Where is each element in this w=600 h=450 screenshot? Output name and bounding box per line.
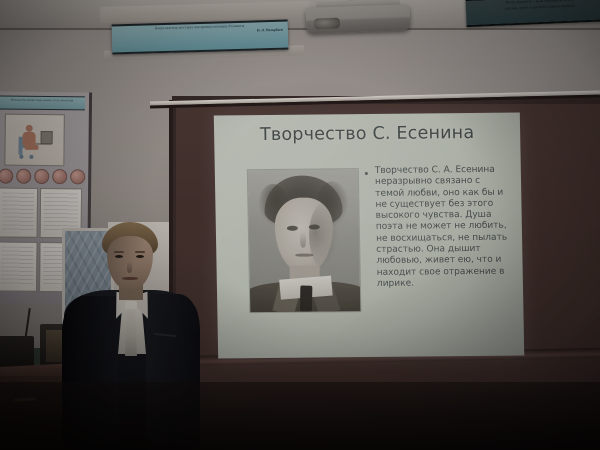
portrait-tie — [300, 285, 312, 311]
badge-icon — [16, 168, 31, 183]
classroom-photo-scene: Көңіл шаттық жастарға жасаратын елімізді… — [0, 0, 600, 450]
badge-icon — [34, 168, 49, 183]
portrait-mouth — [295, 254, 313, 257]
projector-lens-icon — [314, 18, 340, 30]
slide-body-block: Творчество С. А. Есенина неразрывно связ… — [375, 165, 509, 291]
bulletin-sheet — [0, 188, 38, 238]
slide-title: Творчество С. Есенина — [214, 123, 520, 146]
ceiling-projector — [300, 0, 416, 38]
foreground-shadow — [0, 382, 600, 450]
sheet-text-lines — [1, 247, 33, 287]
bullet-point-icon — [365, 172, 368, 175]
chair-wheel-icon-1 — [19, 155, 23, 159]
eyebrow-right — [135, 251, 145, 253]
badge-icon — [0, 168, 13, 183]
slide-body-text: Творчество С. А. Есенина неразрывно связ… — [375, 165, 509, 291]
yesenin-portrait-photo — [248, 169, 361, 312]
nose — [127, 261, 132, 273]
computer-ergonomics-poster — [4, 114, 65, 167]
person-head-icon — [26, 125, 33, 132]
eyebrow-left — [114, 251, 124, 253]
badge-icon — [70, 169, 85, 184]
sheet-text-lines — [2, 193, 34, 233]
projected-slide: Творчество С. Есенина Творчество С. А. Е… — [214, 113, 524, 359]
mouth — [122, 277, 138, 280]
bulletin-board-header: Компьютер кабинетінде жұмыс істеу ережел… — [0, 96, 85, 111]
portrait-eye-right — [309, 224, 320, 229]
eye-left — [115, 255, 123, 258]
chair-wheel-icon-2 — [29, 155, 33, 159]
necktie-knot — [125, 301, 137, 309]
seated-person-icon — [15, 123, 51, 159]
wall-banner-left: Көңіл шаттық жастарға жасаратын елімізді… — [112, 20, 289, 55]
person-legs-icon — [25, 145, 39, 150]
eye-right — [136, 255, 144, 258]
bulletin-badge-row — [0, 168, 90, 185]
bulletin-board-header-text: Компьютер кабинетінде жұмыс істеу ережел… — [0, 97, 85, 104]
badge-icon — [52, 169, 67, 184]
monitor-icon — [41, 131, 53, 144]
portrait-nose — [300, 232, 306, 248]
person-torso-icon — [23, 132, 36, 146]
bulletin-sheet — [0, 242, 38, 292]
